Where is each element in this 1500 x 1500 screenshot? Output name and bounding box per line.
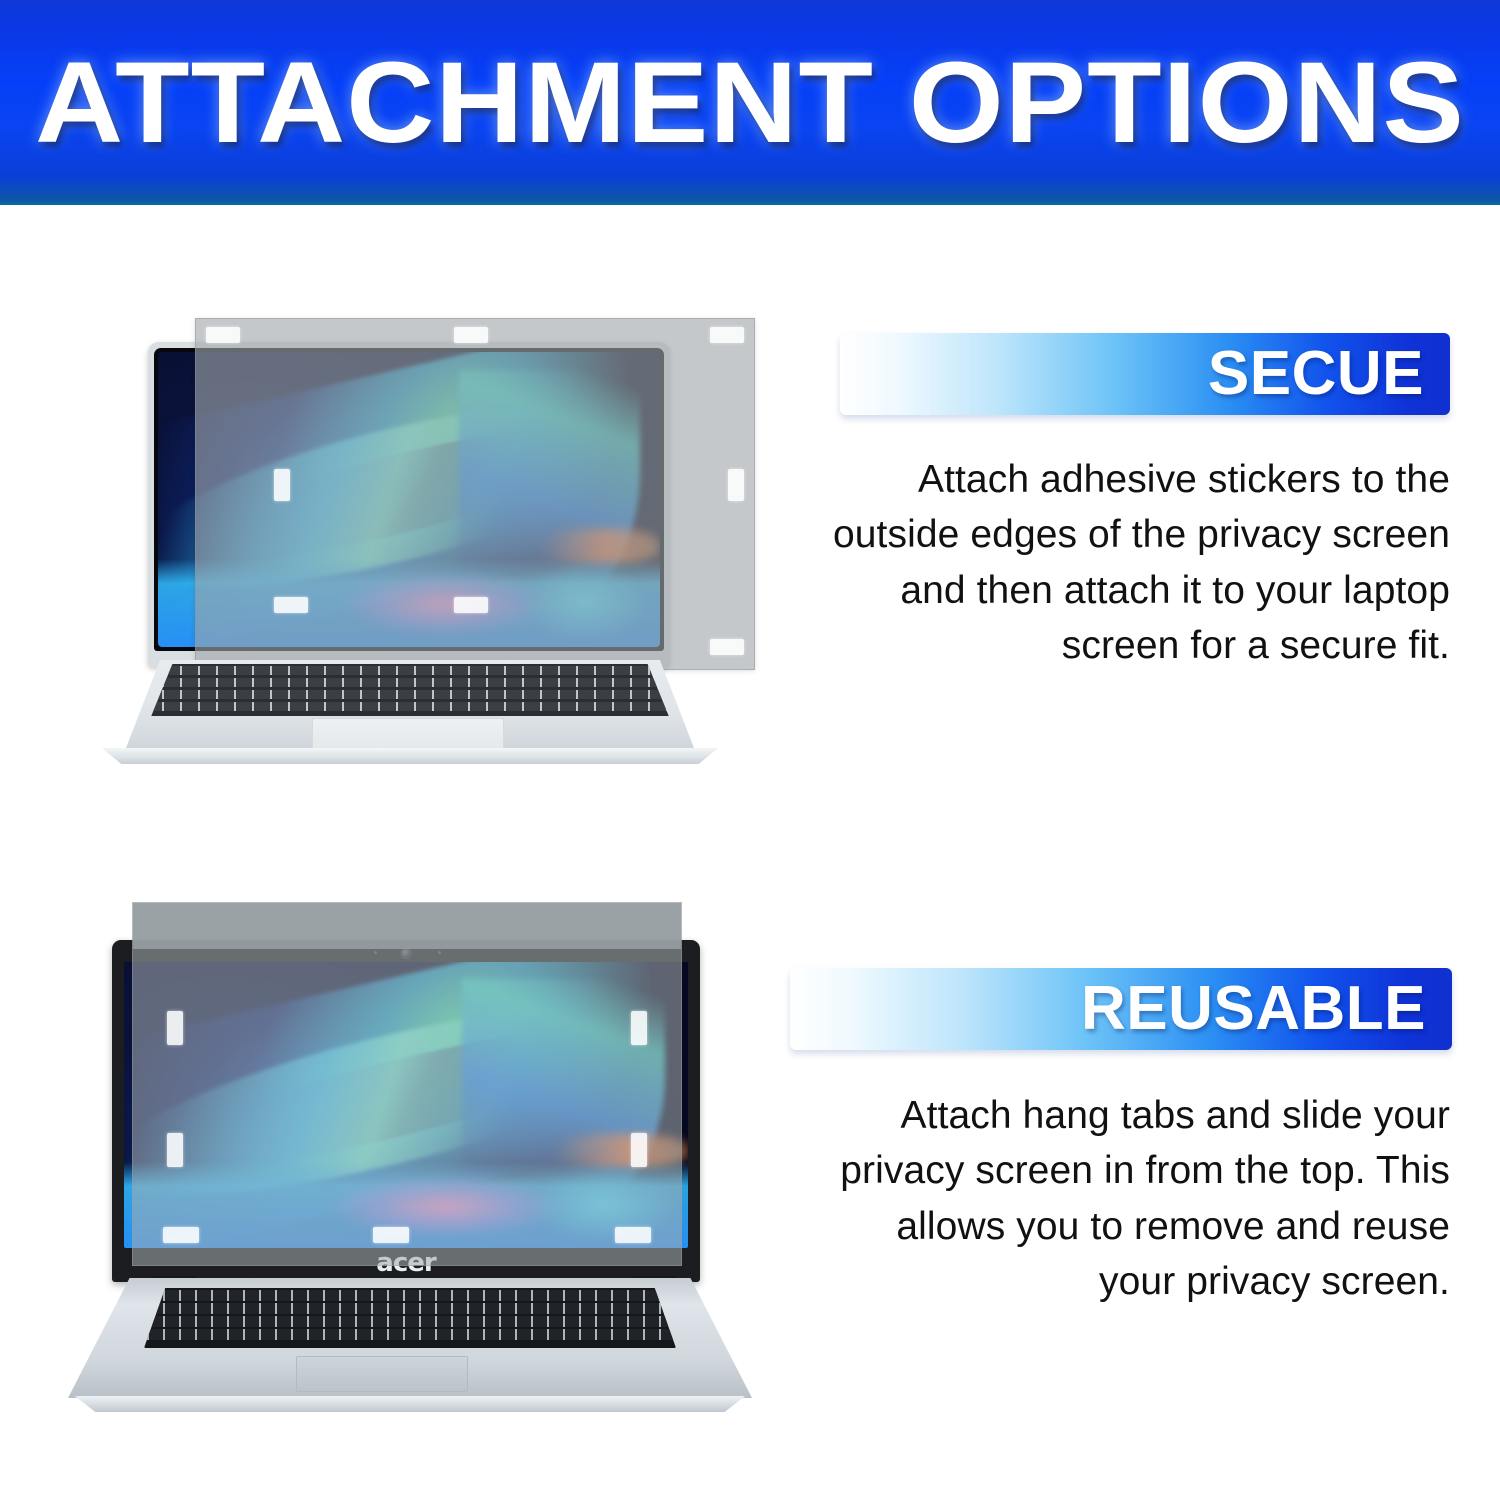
adhesive-sticker bbox=[274, 469, 290, 501]
adhesive-sticker bbox=[274, 597, 308, 613]
badge-reusable-label: REUSABLE bbox=[1081, 978, 1426, 1040]
laptop-trackpad bbox=[296, 1356, 468, 1392]
laptop-front-lip bbox=[82, 748, 738, 764]
adhesive-sticker bbox=[728, 469, 744, 501]
adhesive-sticker bbox=[710, 639, 744, 655]
laptop-illustration-secure bbox=[60, 300, 760, 800]
hang-tab bbox=[615, 1227, 651, 1243]
description-reusable: Attach hang tabs and slide your privacy … bbox=[830, 1088, 1450, 1310]
adhesive-sticker bbox=[710, 327, 744, 343]
laptop-base bbox=[68, 1278, 752, 1428]
laptop-keyboard bbox=[146, 664, 674, 716]
description-line: privacy screen in from the top. This bbox=[830, 1143, 1450, 1198]
description-line: allows you to remove and reuse bbox=[830, 1199, 1450, 1254]
hang-tab bbox=[167, 1133, 183, 1167]
privacy-screen-film[interactable] bbox=[195, 318, 755, 670]
hang-tab bbox=[631, 1133, 647, 1167]
hang-tab bbox=[631, 1011, 647, 1045]
hang-tab bbox=[373, 1227, 409, 1243]
laptop-keyboard bbox=[144, 1288, 676, 1348]
laptop-base bbox=[82, 660, 738, 772]
adhesive-sticker bbox=[206, 327, 240, 343]
film-hang-edge bbox=[133, 903, 681, 949]
adhesive-sticker bbox=[454, 597, 488, 613]
description-line: and then attach it to your laptop bbox=[830, 563, 1450, 618]
description-line: outside edges of the privacy screen bbox=[830, 507, 1450, 562]
description-secure: Attach adhesive stickers to the outside … bbox=[830, 452, 1450, 674]
description-line: Attach hang tabs and slide your bbox=[830, 1088, 1450, 1143]
description-line: Attach adhesive stickers to the bbox=[830, 452, 1450, 507]
laptop-front-lip bbox=[68, 1396, 752, 1412]
description-line: screen for a secure fit. bbox=[830, 618, 1450, 673]
description-line: your privacy screen. bbox=[830, 1254, 1450, 1309]
badge-reusable: REUSABLE bbox=[790, 968, 1452, 1050]
adhesive-sticker bbox=[454, 327, 488, 343]
page-title: ATTACHMENT OPTIONS bbox=[0, 0, 1500, 205]
hang-tab bbox=[167, 1011, 183, 1045]
badge-secure-label: SECUE bbox=[1208, 343, 1424, 405]
privacy-screen-film[interactable] bbox=[132, 902, 682, 1266]
hang-tab bbox=[163, 1227, 199, 1243]
header-banner: ATTACHMENT OPTIONS bbox=[0, 0, 1500, 205]
laptop-illustration-reusable: acer bbox=[60, 880, 760, 1440]
badge-secure: SECUE bbox=[840, 333, 1450, 415]
